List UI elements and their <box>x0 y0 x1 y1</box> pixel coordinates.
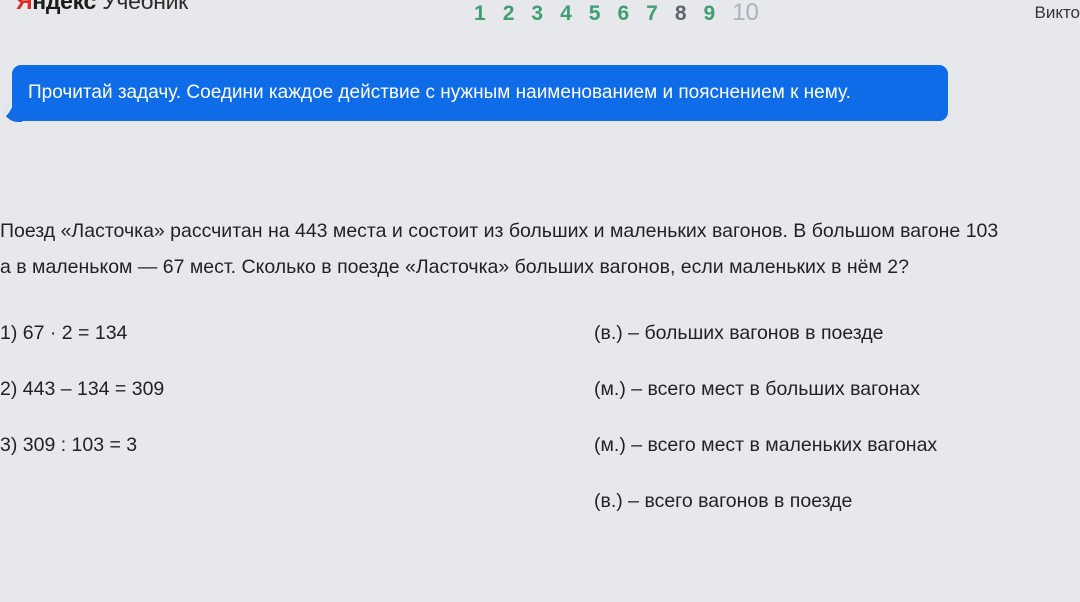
yandex-uchebnik-logo[interactable]: Яндекс Учебник <box>16 0 188 14</box>
action-item-1[interactable]: 1) 67 · 2 = 134 <box>0 305 560 361</box>
page-number-1[interactable]: 1 <box>474 2 486 26</box>
page-number-2[interactable]: 2 <box>503 2 515 26</box>
instruction-banner: Прочитай задачу. Соедини каждое действие… <box>12 65 948 121</box>
logo-yandex-rest: ндекс <box>32 0 96 14</box>
action-item-2[interactable]: 2) 443 – 134 = 309 <box>0 361 560 417</box>
logo-product-name: Учебник <box>102 0 188 14</box>
page-number-10[interactable]: 10 <box>732 1 759 25</box>
page-number-7[interactable]: 7 <box>646 2 658 26</box>
problem-line-2: а в маленьком — 67 мест. Сколько в поезд… <box>0 249 1080 285</box>
matching-area: 1) 67 · 2 = 134 2) 443 – 134 = 309 3) 30… <box>0 305 1080 535</box>
logo-ya-letter: Я <box>16 0 32 14</box>
page-number-4[interactable]: 4 <box>560 2 572 26</box>
page-number-6[interactable]: 6 <box>617 2 629 26</box>
actions-column: 1) 67 · 2 = 134 2) 443 – 134 = 309 3) 30… <box>0 305 560 473</box>
explanations-column: (в.) – больших вагонов в поезде (м.) – в… <box>594 305 1080 529</box>
explanation-item-3[interactable]: (м.) – всего мест в маленьких вагонах <box>594 417 1080 473</box>
problem-line-1: Поезд «Ласточка» рассчитан на 443 места … <box>0 213 1080 249</box>
page-number-3[interactable]: 3 <box>531 2 543 26</box>
explanation-item-1[interactable]: (в.) – больших вагонов в поезде <box>594 305 1080 361</box>
explanation-item-2[interactable]: (м.) – всего мест в больших вагонах <box>594 361 1080 417</box>
page-number-5[interactable]: 5 <box>589 2 601 26</box>
top-bar: Яндекс Учебник 1 2 3 4 5 6 7 8 9 10 Викт… <box>0 0 1080 30</box>
explanation-item-4[interactable]: (в.) – всего вагонов в поезде <box>594 473 1080 529</box>
problem-statement: Поезд «Ласточка» рассчитан на 443 места … <box>0 213 1080 285</box>
action-item-3[interactable]: 3) 309 : 103 = 3 <box>0 417 560 473</box>
user-name-label[interactable]: Викто <box>1034 2 1080 24</box>
page-number-9[interactable]: 9 <box>704 2 716 26</box>
instruction-banner-body: Прочитай задачу. Соедини каждое действие… <box>12 65 948 121</box>
instruction-text: Прочитай задачу. Соедини каждое действие… <box>28 81 851 105</box>
task-pagination[interactable]: 1 2 3 4 5 6 7 8 9 10 <box>474 1 759 27</box>
page-number-8[interactable]: 8 <box>675 2 687 26</box>
